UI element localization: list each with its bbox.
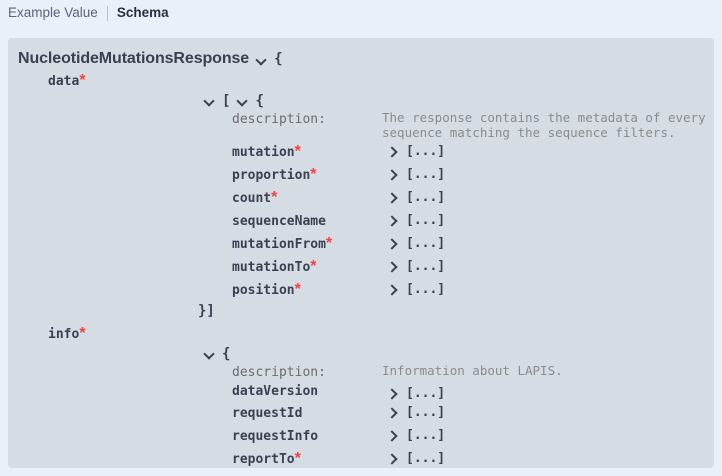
chevron-right-icon[interactable] <box>386 429 399 442</box>
info-description-text: Information about LAPIS. <box>382 363 563 378</box>
property-row-data: data* <box>8 71 714 91</box>
chevron-right-icon[interactable] <box>386 452 399 465</box>
field-value-placeholder: [...] <box>406 190 445 205</box>
field-expander-mutation[interactable]: [...] <box>382 144 445 159</box>
field-row-mutationFrom: mutationFrom* [...] <box>8 232 714 255</box>
field-row-mutation: mutation* [...] <box>8 140 714 163</box>
description-label: description: <box>232 365 326 380</box>
info-object-open-row[interactable]: { <box>8 344 714 363</box>
field-value-placeholder: [...] <box>406 236 445 251</box>
required-marker: * <box>326 235 332 252</box>
field-name-mutationTo: mutationTo <box>232 260 310 275</box>
field-row-reportTo: reportTo* [...] <box>8 447 714 468</box>
response-view-tabs: Example Value Schema <box>0 0 722 26</box>
array-open-bracket: [ <box>222 93 230 109</box>
chevron-down-icon[interactable] <box>203 94 216 107</box>
tab-example-value[interactable]: Example Value <box>8 6 107 20</box>
chevron-down-icon[interactable] <box>236 94 249 107</box>
chevron-down-icon[interactable] <box>203 347 216 360</box>
field-value-placeholder: [...] <box>406 144 445 159</box>
field-value-placeholder: [...] <box>406 213 445 228</box>
field-name-requestId: requestId <box>232 406 302 421</box>
field-expander-reportTo[interactable]: [...] <box>382 451 445 466</box>
chevron-right-icon[interactable] <box>386 387 399 400</box>
info-description-row: description: Information about LAPIS. <box>8 363 714 381</box>
data-description-row: description: The response contains the m… <box>8 110 714 140</box>
schema-panel: NucleotideMutationsResponse { data* [ { … <box>8 38 714 468</box>
property-name-data: data <box>48 74 79 89</box>
field-name-mutationFrom: mutationFrom <box>232 237 326 252</box>
field-row-dataVersion: dataVersion [...] <box>8 381 714 401</box>
property-name-container: data* <box>8 72 203 90</box>
field-value-placeholder: [...] <box>406 259 445 274</box>
chevron-right-icon[interactable] <box>386 191 399 204</box>
field-name-proportion: proportion <box>232 168 310 183</box>
required-marker: * <box>79 72 85 89</box>
data-array-open-row[interactable]: [ { <box>8 91 714 110</box>
required-marker: * <box>310 258 316 275</box>
field-expander-mutationFrom[interactable]: [...] <box>382 236 445 251</box>
chevron-right-icon[interactable] <box>386 145 399 158</box>
object-open-brace: { <box>222 346 230 362</box>
field-row-requestId: requestId [...] <box>8 401 714 424</box>
chevron-right-icon[interactable] <box>386 406 399 419</box>
field-row-proportion: proportion* [...] <box>8 163 714 186</box>
description-label: description: <box>232 112 326 127</box>
property-row-info: info* <box>8 324 714 344</box>
field-name-position: position <box>232 283 295 298</box>
field-row-mutationTo: mutationTo* [...] <box>8 255 714 278</box>
field-name-reportTo: reportTo <box>232 452 295 467</box>
chevron-right-icon[interactable] <box>386 214 399 227</box>
array-close-bracket: }] <box>198 303 215 319</box>
field-name-count: count <box>232 191 271 206</box>
chevron-down-icon[interactable] <box>255 53 268 66</box>
array-item-open-brace: { <box>255 93 263 109</box>
field-expander-proportion[interactable]: [...] <box>382 167 445 182</box>
required-marker: * <box>295 143 301 160</box>
tab-divider <box>107 6 108 21</box>
field-value-placeholder: [...] <box>406 451 445 466</box>
field-value-placeholder: [...] <box>406 386 445 401</box>
field-row-count: count* [...] <box>8 186 714 209</box>
field-row-requestInfo: requestInfo [...] <box>8 424 714 447</box>
field-expander-count[interactable]: [...] <box>382 190 445 205</box>
field-name-sequenceName: sequenceName <box>232 214 326 229</box>
field-value-placeholder: [...] <box>406 428 445 443</box>
field-expander-dataVersion[interactable]: [...] <box>382 386 445 401</box>
field-name-mutation: mutation <box>232 145 295 160</box>
required-marker: * <box>310 166 316 183</box>
required-marker: * <box>271 189 277 206</box>
required-marker: * <box>79 325 85 342</box>
field-expander-sequenceName[interactable]: [...] <box>382 213 445 228</box>
field-row-position: position* [...] <box>8 278 714 301</box>
required-marker: * <box>295 281 301 298</box>
model-open-brace: { <box>274 51 282 67</box>
property-name-info: info <box>48 327 79 342</box>
tab-schema[interactable]: Schema <box>117 6 178 20</box>
field-expander-position[interactable]: [...] <box>382 282 445 297</box>
field-expander-mutationTo[interactable]: [...] <box>382 259 445 274</box>
required-marker: * <box>295 450 301 467</box>
chevron-right-icon[interactable] <box>386 168 399 181</box>
field-expander-requestInfo[interactable]: [...] <box>382 428 445 443</box>
field-value-placeholder: [...] <box>406 167 445 182</box>
chevron-right-icon[interactable] <box>386 283 399 296</box>
data-description-text: The response contains the metadata of ev… <box>382 110 712 140</box>
model-title-row[interactable]: NucleotideMutationsResponse { <box>8 46 714 71</box>
field-name-requestInfo: requestInfo <box>232 429 318 444</box>
field-value-placeholder: [...] <box>406 405 445 420</box>
field-value-placeholder: [...] <box>406 282 445 297</box>
data-array-close-row: }] <box>8 301 714 320</box>
chevron-right-icon[interactable] <box>386 237 399 250</box>
field-expander-requestId[interactable]: [...] <box>382 405 445 420</box>
field-row-sequenceName: sequenceName [...] <box>8 209 714 232</box>
chevron-right-icon[interactable] <box>386 260 399 273</box>
field-name-dataVersion: dataVersion <box>232 384 318 399</box>
model-name: NucleotideMutationsResponse <box>18 50 249 68</box>
